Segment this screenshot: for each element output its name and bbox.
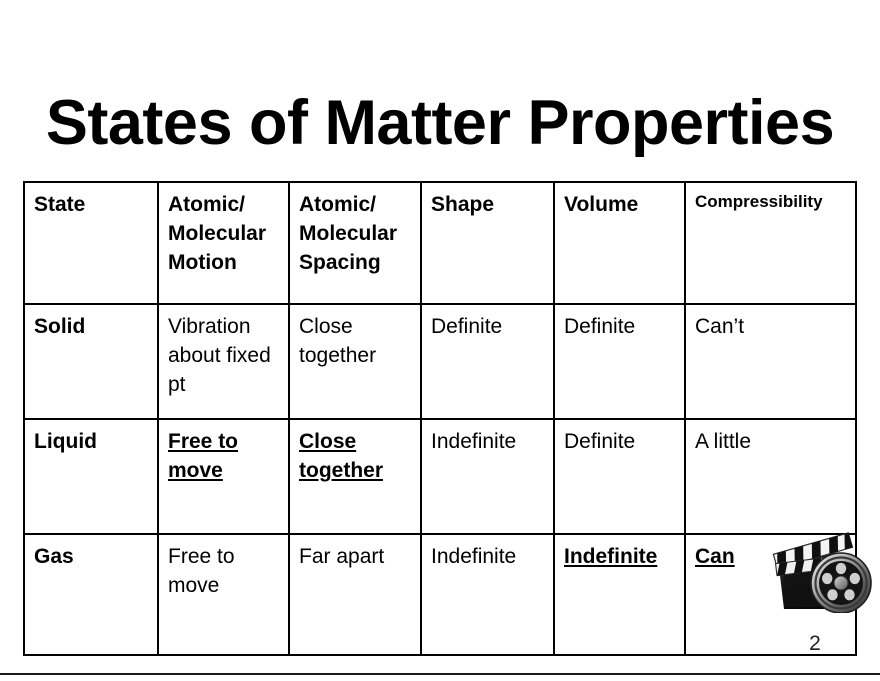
- cell-shape: Indefinite: [421, 419, 554, 534]
- table-header-row: State Atomic/ Molecular Motion Atomic/ M…: [24, 182, 856, 304]
- column-header-compressibility: Compressibility: [685, 182, 856, 304]
- cell-shape: Definite: [421, 304, 554, 419]
- table-row: Gas Free to move Far apart Indefinite In…: [24, 534, 856, 655]
- cell-compressibility: A little: [685, 419, 856, 534]
- cell-motion-value: Vibration about fixed pt: [168, 315, 271, 396]
- cell-spacing-value: Close together: [299, 430, 383, 482]
- cell-volume: Definite: [554, 304, 685, 419]
- table-row: Liquid Free to move Close together Indef…: [24, 419, 856, 534]
- page-title: States of Matter Properties: [0, 90, 880, 156]
- cell-compressibility-value: Can’t: [695, 315, 744, 338]
- cell-state: Gas: [24, 534, 158, 655]
- header-motion-line-3: Motion: [168, 251, 237, 274]
- cell-motion-value: Free to move: [168, 545, 235, 597]
- cell-motion: Vibration about fixed pt: [158, 304, 289, 419]
- cell-state-label: Solid: [34, 315, 85, 338]
- states-of-matter-properties-table: State Atomic/ Molecular Motion Atomic/ M…: [23, 181, 857, 656]
- header-spacing-line-3: Spacing: [299, 251, 381, 274]
- movie-clapperboard-film-reel-icon: [766, 525, 874, 613]
- cell-volume-value: Indefinite: [564, 545, 657, 568]
- cell-compressibility: Can’t: [685, 304, 856, 419]
- slide-canvas: States of Matter Properties State Atomic…: [0, 0, 880, 681]
- cell-volume-value: Definite: [564, 315, 635, 338]
- cell-spacing: Far apart: [289, 534, 421, 655]
- column-header-shape: Shape: [421, 182, 554, 304]
- column-header-atomic-molecular-spacing: Atomic/ Molecular Spacing: [289, 182, 421, 304]
- cell-motion-value: Free to move: [168, 430, 238, 482]
- cell-state-label: Liquid: [34, 430, 97, 453]
- column-header-state-label: State: [34, 193, 85, 216]
- page-number: 2: [795, 632, 835, 656]
- cell-state-label: Gas: [34, 545, 74, 568]
- table-row: Solid Vibration about fixed pt Close tog…: [24, 304, 856, 419]
- cell-shape-value: Indefinite: [431, 545, 516, 568]
- cell-spacing-value: Far apart: [299, 545, 384, 568]
- cell-volume: Indefinite: [554, 534, 685, 655]
- cell-volume: Definite: [554, 419, 685, 534]
- column-header-volume: Volume: [554, 182, 685, 304]
- cell-shape-value: Definite: [431, 315, 502, 338]
- cell-motion: Free to move: [158, 419, 289, 534]
- cell-spacing: Close together: [289, 419, 421, 534]
- cell-motion: Free to move: [158, 534, 289, 655]
- cell-volume-value: Definite: [564, 430, 635, 453]
- bottom-divider: [0, 673, 880, 675]
- cell-state: Liquid: [24, 419, 158, 534]
- column-header-state: State: [24, 182, 158, 304]
- column-header-atomic-molecular-motion: Atomic/ Molecular Motion: [158, 182, 289, 304]
- cell-shape: Indefinite: [421, 534, 554, 655]
- header-spacing-line-2: Molecular: [299, 222, 397, 245]
- column-header-compressibility-label: Compressibility: [695, 192, 823, 211]
- cell-spacing: Close together: [289, 304, 421, 419]
- column-header-shape-label: Shape: [431, 193, 494, 216]
- column-header-volume-label: Volume: [564, 193, 638, 216]
- header-spacing-line-1: Atomic/: [299, 193, 376, 216]
- header-motion-line-2: Molecular: [168, 222, 266, 245]
- cell-shape-value: Indefinite: [431, 430, 516, 453]
- cell-compressibility-value: Can: [695, 545, 735, 568]
- cell-state: Solid: [24, 304, 158, 419]
- header-motion-line-1: Atomic/: [168, 193, 245, 216]
- cell-spacing-value: Close together: [299, 315, 376, 367]
- cell-compressibility-value: A little: [695, 430, 751, 453]
